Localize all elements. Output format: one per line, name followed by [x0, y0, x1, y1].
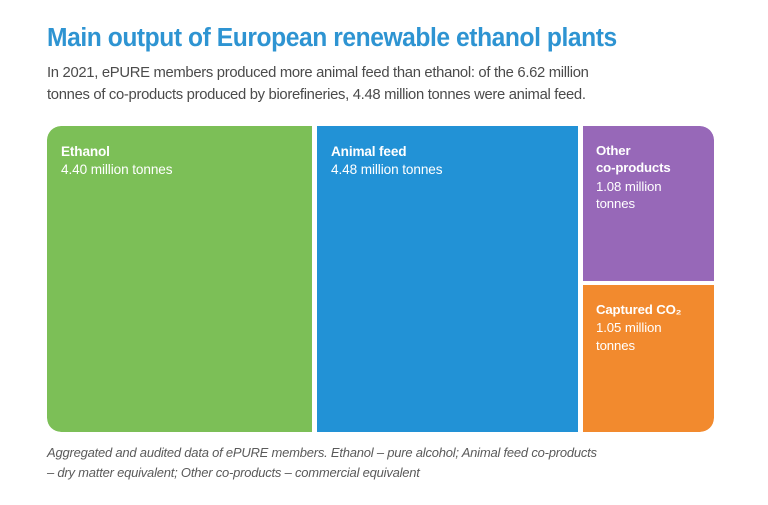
treemap-cell-captured-co2-label: Captured CO₂: [596, 301, 700, 318]
chart-footnote-line-1: Aggregated and audited data of ePURE mem…: [47, 443, 737, 463]
treemap-cell-captured-co2-label-line-1: Captured CO₂: [596, 301, 700, 318]
infographic-page: Main output of European renewable ethano…: [0, 0, 768, 505]
treemap-cell-ethanol[interactable]: Ethanol 4.40 million tonnes: [47, 126, 312, 432]
treemap-cell-other-co-products-value: 1.08 million tonnes: [596, 178, 700, 213]
treemap-cell-captured-co2-value-line-1: 1.05 million: [596, 319, 700, 336]
chart-footnote: Aggregated and audited data of ePURE mem…: [47, 443, 737, 483]
chart-footnote-line-2: – dry matter equivalent; Other co-produc…: [47, 463, 737, 483]
chart-subtitle-line-1: In 2021, ePURE members produced more ani…: [47, 62, 730, 84]
treemap-cell-captured-co2[interactable]: Captured CO₂ 1.05 million tonnes: [583, 285, 714, 432]
treemap-cell-ethanol-label-line-1: Ethanol: [61, 143, 298, 160]
treemap-cell-other-co-products-label-line-1: Other: [596, 142, 700, 159]
treemap-cell-animal-feed-value-line-1: 4.48 million tonnes: [331, 161, 564, 178]
treemap-cell-animal-feed-value: 4.48 million tonnes: [331, 161, 564, 178]
treemap-cell-animal-feed-label-line-1: Animal feed: [331, 143, 564, 160]
treemap-cell-animal-feed[interactable]: Animal feed 4.48 million tonnes: [317, 126, 578, 432]
treemap-cell-ethanol-value: 4.40 million tonnes: [61, 161, 298, 178]
treemap-cell-other-co-products-value-line-1: 1.08 million: [596, 178, 700, 195]
treemap-cell-other-co-products-value-line-2: tonnes: [596, 195, 700, 212]
treemap-cell-ethanol-label: Ethanol: [61, 143, 298, 160]
chart-subtitle-line-2: tonnes of co-products produced by bioref…: [47, 84, 730, 106]
treemap-cell-other-co-products-label: Other co-products: [596, 142, 700, 177]
treemap-cell-other-co-products-label-line-2: co-products: [596, 159, 700, 176]
treemap-cell-animal-feed-label: Animal feed: [331, 143, 564, 160]
header: Main output of European renewable ethano…: [47, 24, 719, 106]
treemap-cell-ethanol-value-line-1: 4.40 million tonnes: [61, 161, 298, 178]
page-title: Main output of European renewable ethano…: [47, 24, 695, 53]
treemap-cell-captured-co2-value-line-2: tonnes: [596, 337, 700, 354]
treemap-chart: Ethanol 4.40 million tonnes Animal feed …: [47, 126, 714, 432]
chart-subtitle: In 2021, ePURE members produced more ani…: [47, 62, 730, 107]
treemap-cell-other-co-products[interactable]: Other co-products 1.08 million tonnes: [583, 126, 714, 281]
treemap-cell-captured-co2-value: 1.05 million tonnes: [596, 319, 700, 354]
